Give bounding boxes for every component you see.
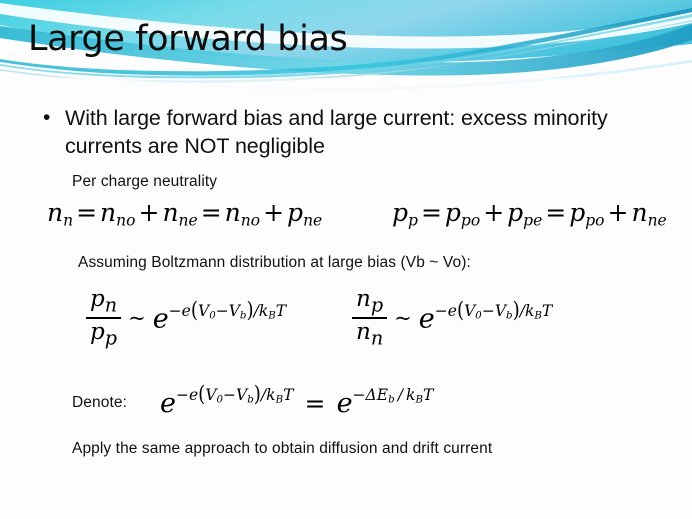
eq-operator-plus: + [605,198,632,227]
equation-electron-density: nn=nno+nne=nno+pne [47,198,322,229]
eq-term: ppo [445,198,480,227]
eq-term: ppo [569,198,604,227]
exponential-term-rhs: e−ΔEb / kBT [337,388,434,419]
bullet-list-item: • With large forward bias and large curr… [43,104,643,160]
note-apply-approach: Apply the same approach to obtain diffus… [72,440,492,458]
eq-term: nne [162,198,197,227]
eq-operator-plus: + [135,198,162,227]
eq-term: pne [287,198,322,227]
fraction-denominator: pp [86,319,121,349]
eq-term: ppe [507,198,542,227]
exponent: −e(V0−Vb)/kBT [435,302,552,320]
note-denote-label: Denote: [72,394,127,412]
page-title: Large forward bias [28,20,347,59]
eq-operator-equals: = [299,389,332,418]
note-boltzmann-assumption: Assuming Boltzmann distribution at large… [78,254,471,272]
eq-operator-plus: + [480,198,507,227]
fraction-pn-over-pp: pn pp [86,287,121,348]
slide-body: • With large forward bias and large curr… [0,92,692,519]
fraction-np-over-nn: np nn [352,287,387,348]
note-charge-neutrality: Per charge neutrality [72,173,217,191]
fraction-denominator: nn [352,319,387,349]
eq-operator-equals: = [542,198,569,227]
relation-approx-icon: ~ [121,306,153,330]
slide-canvas: Large forward bias • With large forward … [0,0,692,519]
exponent: −e(V0−Vb)/kBT [169,302,286,320]
equation-hole-ratio: pn pp ~ e−e(V0−Vb)/kBT [86,287,286,348]
equation-hole-density: pp=ppo+ppe=ppo+nne [392,198,667,229]
exponential-term: e−e(V0−Vb)/kBT [419,300,552,335]
exponent: −ΔEb / kBT [353,386,434,404]
eq-operator-equals: = [198,198,225,227]
eq-term: nne [631,198,666,227]
fraction-numerator: pn [86,287,121,317]
fraction-numerator: np [352,287,387,317]
eq-term: nno [225,198,260,227]
equation-electron-ratio: np nn ~ e−e(V0−Vb)/kBT [352,287,552,348]
equation-barrier-energy: e−e(V0−Vb)/kBT = e−ΔEb / kBT [160,384,433,419]
eq-term: pp [392,198,418,227]
exponential-term: e−e(V0−Vb)/kBT [153,300,286,335]
exponent: −e(V0−Vb)/kBT [176,386,293,404]
bullet-text: With large forward bias and large curren… [65,104,643,160]
eq-term: nno [100,198,135,227]
bullet-marker-icon: • [43,104,65,132]
eq-operator-plus: + [260,198,287,227]
header-bottom-fade [0,78,692,92]
eq-term: nn [47,198,73,227]
exponential-term-lhs: e−e(V0−Vb)/kBT [160,388,293,419]
eq-operator-equals: = [418,198,445,227]
relation-approx-icon: ~ [387,306,419,330]
eq-operator-equals: = [73,198,100,227]
